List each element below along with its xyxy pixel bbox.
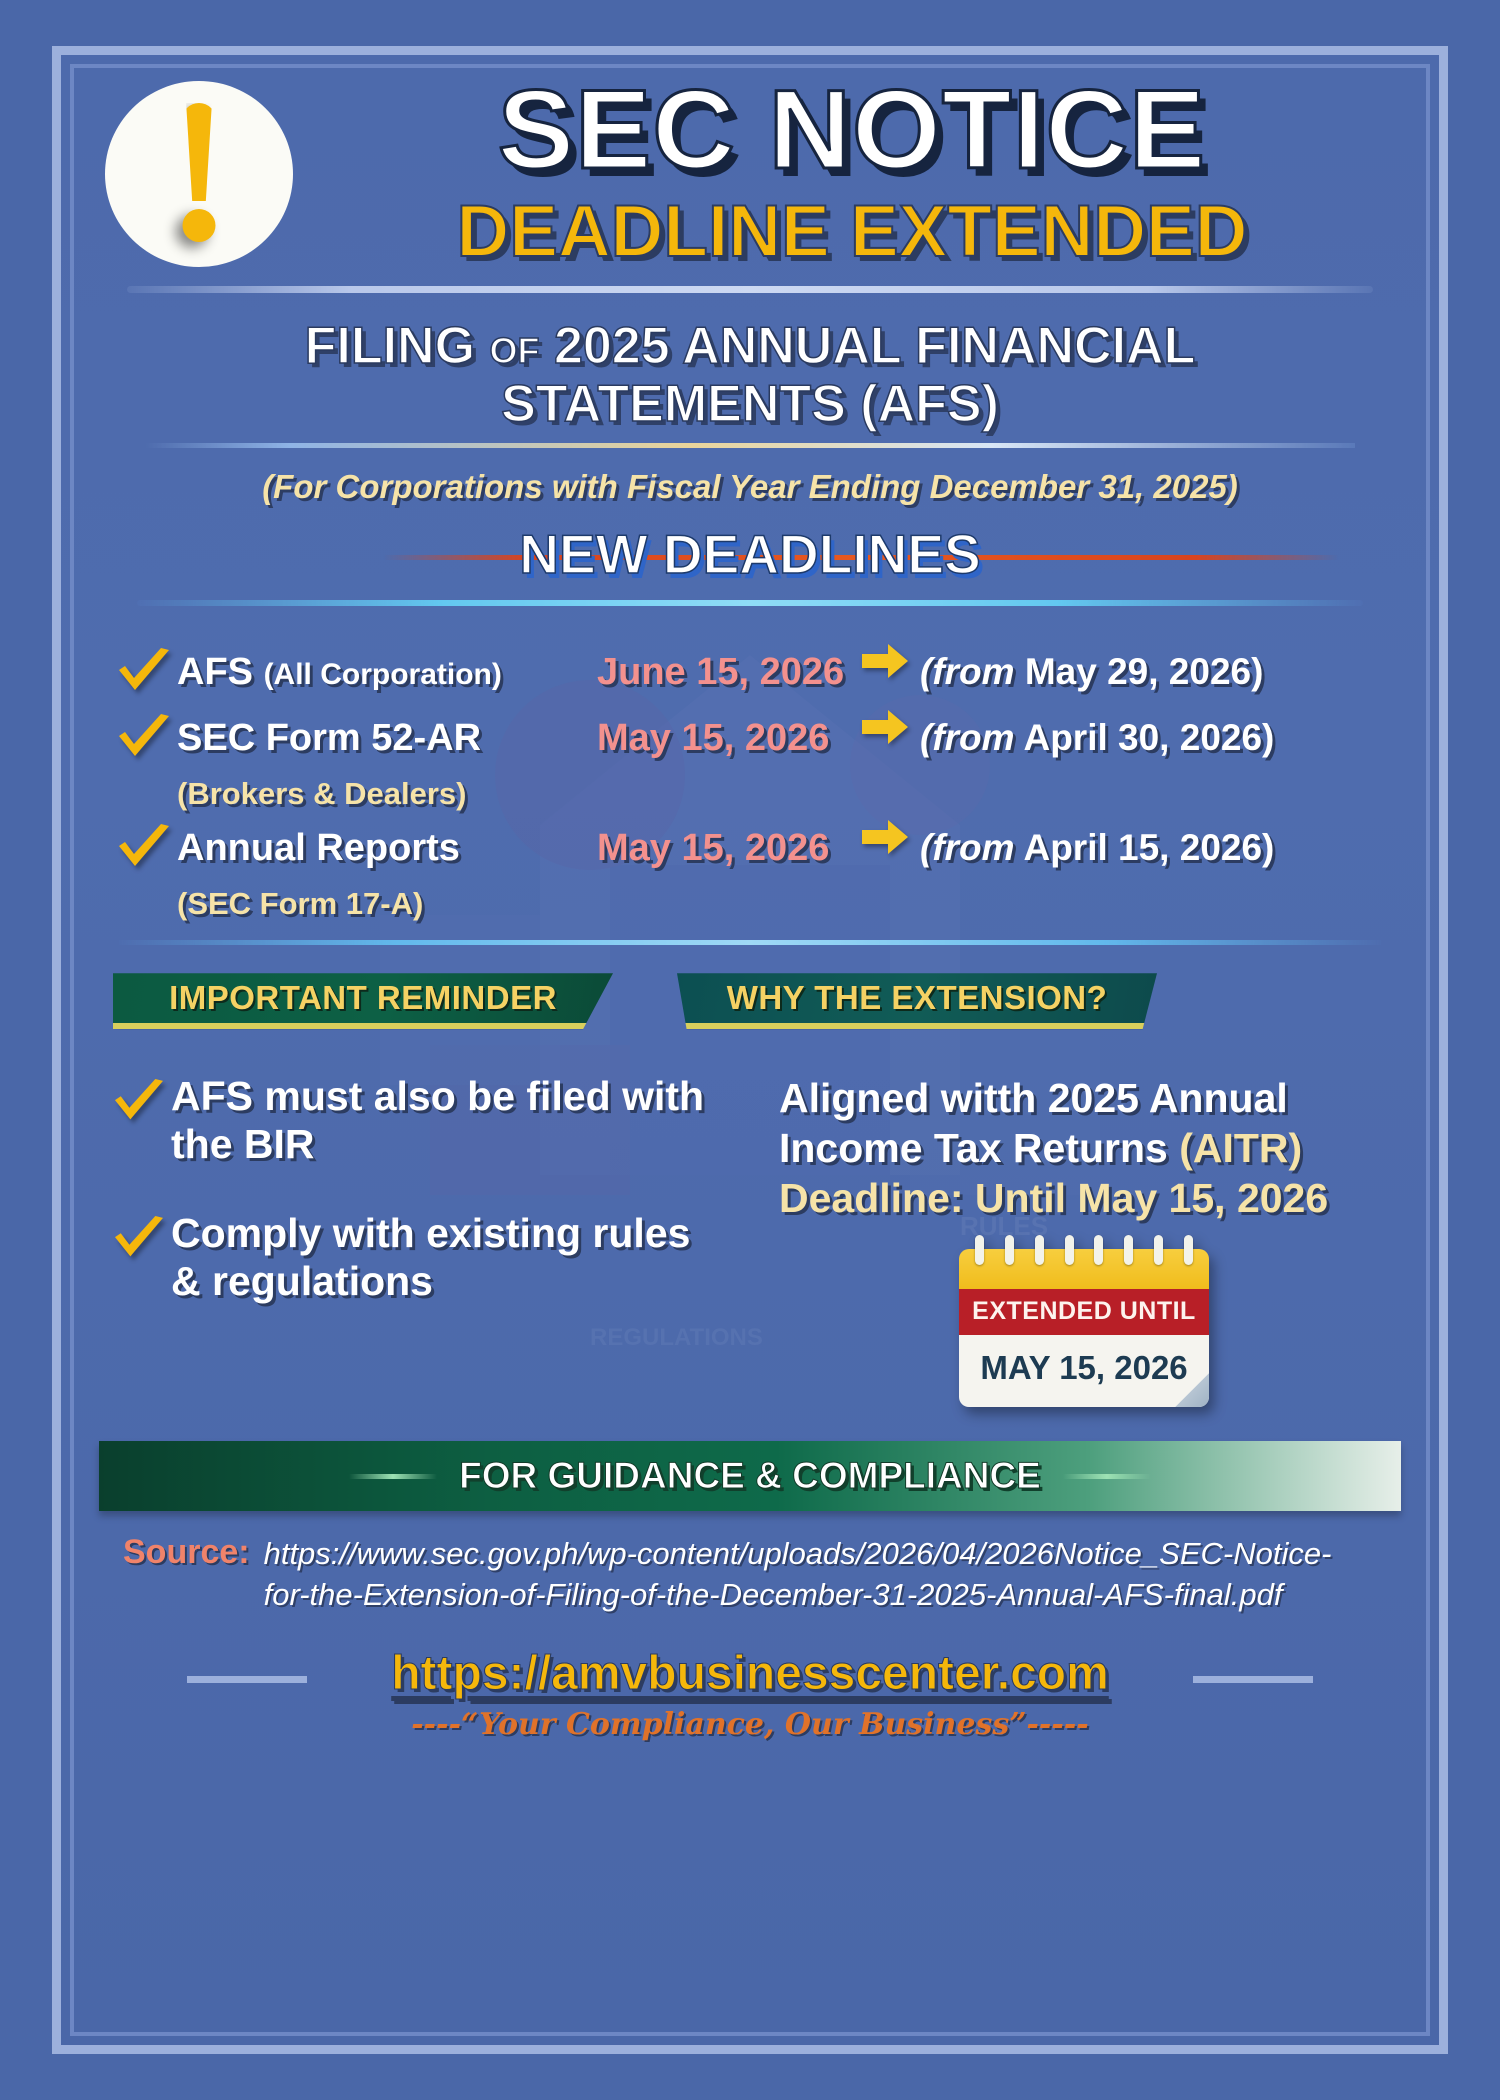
reminder-item: AFS must also be filed with the BIR bbox=[111, 1073, 731, 1168]
deadline-previous-date: (from April 30, 2026) bbox=[920, 717, 1391, 759]
source-label: Source: bbox=[123, 1533, 250, 1572]
important-reminder-banner: IMPORTANT REMINDER bbox=[113, 973, 613, 1029]
reminder-item-text: AFS must also be filed with the BIR bbox=[171, 1073, 731, 1168]
deadline-from-prefix: (from bbox=[920, 717, 1015, 758]
deadline-previous-date: (from May 29, 2026) bbox=[920, 651, 1391, 693]
divider-gold bbox=[145, 443, 1355, 448]
deadline-sublabel: (Brokers & Dealers) bbox=[177, 776, 1391, 812]
deadline-label-main: AFS bbox=[177, 651, 264, 693]
section-banners: IMPORTANT REMINDER WHY THE EXTENSION? bbox=[97, 973, 1403, 1029]
source-url[interactable]: https://www.sec.gov.ph/wp-content/upload… bbox=[264, 1533, 1373, 1615]
reminder-column: AFS must also be filed with the BIR Comp… bbox=[111, 1073, 731, 1407]
deadline-label-main: SEC Form 52-AR bbox=[177, 717, 481, 759]
exclamation-bar bbox=[182, 103, 216, 201]
check-icon bbox=[111, 1079, 171, 1127]
filing-text-b: 2025 ANNUAL FINANCIAL bbox=[540, 317, 1196, 375]
calendar-ring bbox=[1094, 1235, 1103, 1265]
deadline-label: Annual Reports bbox=[177, 827, 597, 870]
footer: https://amvbusinesscenter.com ----“Your … bbox=[97, 1646, 1403, 1742]
source-block: Source: https://www.sec.gov.ph/wp-conten… bbox=[123, 1533, 1373, 1615]
deadline-label: AFS (All Corporation) bbox=[177, 651, 597, 694]
deadline-new-date: May 15, 2026 bbox=[597, 827, 862, 870]
poster-frame-outer: RULES REGULATIONS SEC NOTICE DEADLINE EX… bbox=[52, 46, 1448, 2054]
poster-content: SEC NOTICE DEADLINE EXTENDED FILING OF 2… bbox=[61, 55, 1439, 1742]
check-icon bbox=[115, 714, 177, 764]
why-line-2-aitr: (AITR) bbox=[1179, 1125, 1302, 1171]
exclamation-dot bbox=[183, 209, 216, 242]
divider-cyan bbox=[137, 600, 1363, 606]
calendar-ring bbox=[975, 1235, 984, 1265]
check-icon bbox=[111, 1216, 171, 1264]
deadline-from-date: May 29, 2026) bbox=[1025, 651, 1264, 692]
why-line-1: Aligned witth 2025 Annual bbox=[779, 1073, 1389, 1123]
calendar-ring bbox=[1035, 1235, 1044, 1265]
calendar-ring bbox=[1154, 1235, 1163, 1265]
footer-rule-right bbox=[1193, 1676, 1313, 1683]
calendar-ring bbox=[1065, 1235, 1074, 1265]
body-columns: AFS must also be filed with the BIR Comp… bbox=[97, 1073, 1403, 1407]
arrow-right-icon bbox=[862, 818, 920, 856]
divider-light bbox=[127, 286, 1373, 293]
filing-headline: FILING OF 2025 ANNUAL FINANCIAL STATEMEN… bbox=[97, 317, 1403, 433]
deadline-new-date: May 15, 2026 bbox=[597, 717, 862, 760]
calendar-ribbon-label: EXTENDED UNTIL bbox=[959, 1289, 1209, 1335]
deadline-list: AFS (All Corporation) June 15, 2026 (fro… bbox=[97, 646, 1403, 922]
new-deadlines-heading-wrap: NEW DEADLINES bbox=[97, 522, 1403, 586]
filing-text-a: FILING bbox=[305, 317, 490, 375]
tagline: ----“Your Compliance, Our Business”----- bbox=[97, 1707, 1403, 1742]
deadline-previous-date: (from April 15, 2026) bbox=[920, 827, 1391, 869]
deadline-label-main: Annual Reports bbox=[177, 827, 460, 869]
guidance-dash-left bbox=[349, 1474, 437, 1479]
filing-text-line2: STATEMENTS (AFS) bbox=[501, 375, 999, 433]
poster: RULES REGULATIONS SEC NOTICE DEADLINE EX… bbox=[0, 0, 1500, 2100]
calendar-ring bbox=[1005, 1235, 1014, 1265]
deadline-from-date: April 30, 2026) bbox=[1023, 717, 1274, 758]
calendar-ring bbox=[1124, 1235, 1133, 1265]
why-line-2-a: Income Tax Returns bbox=[779, 1125, 1179, 1171]
calendar-rings bbox=[975, 1235, 1193, 1265]
guidance-banner-text: FOR GUIDANCE & COMPLIANCE bbox=[459, 1455, 1041, 1497]
why-extension-banner: WHY THE EXTENSION? bbox=[677, 973, 1157, 1029]
deadline-from-prefix: (from bbox=[920, 651, 1015, 692]
new-deadlines-heading: NEW DEADLINES bbox=[519, 522, 980, 586]
exclamation-icon bbox=[105, 81, 293, 267]
calendar-ring bbox=[1184, 1235, 1193, 1265]
deadline-row: AFS (All Corporation) June 15, 2026 (fro… bbox=[115, 646, 1391, 698]
deadline-label: SEC Form 52-AR bbox=[177, 717, 597, 760]
reminder-item-text: Comply with existing rules & regulations bbox=[171, 1210, 731, 1305]
deadline-new-date: June 15, 2026 bbox=[597, 651, 862, 694]
arrow-right-icon bbox=[862, 708, 920, 746]
calendar-wrap: EXTENDED UNTIL MAY 15, 2026 bbox=[779, 1249, 1389, 1407]
title-block: SEC NOTICE DEADLINE EXTENDED bbox=[311, 75, 1403, 268]
guidance-banner: FOR GUIDANCE & COMPLIANCE bbox=[99, 1441, 1401, 1511]
website-link[interactable]: https://amvbusinesscenter.com bbox=[391, 1646, 1109, 1701]
why-line-3: Deadline: Until May 15, 2026 bbox=[779, 1173, 1389, 1223]
header: SEC NOTICE DEADLINE EXTENDED bbox=[97, 69, 1403, 268]
calendar-date-label: MAY 15, 2026 bbox=[959, 1335, 1209, 1407]
deadline-row: SEC Form 52-AR May 15, 2026 (from April … bbox=[115, 712, 1391, 812]
filing-text-of: OF bbox=[490, 330, 540, 371]
why-line-2: Income Tax Returns (AITR) bbox=[779, 1123, 1389, 1173]
page-title: SEC NOTICE bbox=[300, 75, 1404, 185]
check-icon bbox=[115, 824, 177, 874]
check-icon bbox=[115, 648, 177, 698]
deadline-from-date: April 15, 2026) bbox=[1023, 827, 1274, 868]
calendar-icon: EXTENDED UNTIL MAY 15, 2026 bbox=[959, 1249, 1209, 1407]
reminder-item: Comply with existing rules & regulations bbox=[111, 1210, 731, 1305]
deadline-from-prefix: (from bbox=[920, 827, 1015, 868]
divider-cyan-2 bbox=[119, 940, 1381, 945]
guidance-dash-right bbox=[1063, 1474, 1151, 1479]
why-extension-column: Aligned witth 2025 Annual Income Tax Ret… bbox=[765, 1073, 1389, 1407]
deadline-sublabel: (SEC Form 17-A) bbox=[177, 886, 1391, 922]
fiscal-year-note: (For Corporations with Fiscal Year Endin… bbox=[97, 468, 1403, 506]
calendar-date-text: MAY 15, 2026 bbox=[980, 1349, 1187, 1386]
deadline-row: Annual Reports May 15, 2026 (from April … bbox=[115, 822, 1391, 922]
why-extension-text: Aligned witth 2025 Annual Income Tax Ret… bbox=[779, 1073, 1389, 1223]
arrow-right-icon bbox=[862, 642, 920, 680]
page-subtitle: DEADLINE EXTENDED bbox=[311, 195, 1393, 268]
footer-rule-left bbox=[187, 1676, 307, 1683]
deadline-label-paren: (All Corporation) bbox=[264, 658, 502, 691]
